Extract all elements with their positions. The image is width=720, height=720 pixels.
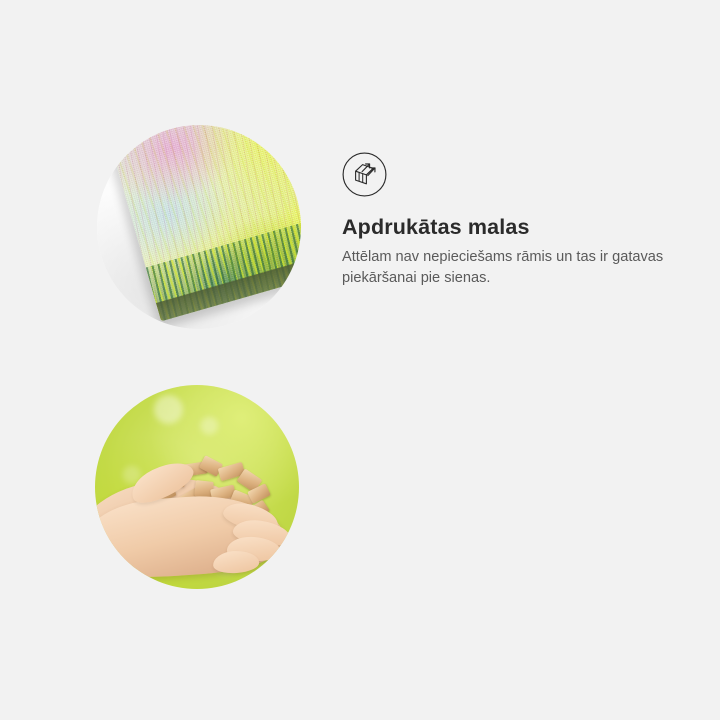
feature-section-printed-edges: Apdrukātas malas Attēlam nav nepieciešam… [0,0,720,360]
wood-chips-hands-photo [95,385,299,589]
printed-edges-icon [342,152,387,197]
feature-content-printed-edges: Apdrukātas malas Attēlam nav nepieciešam… [342,152,686,288]
canvas-corner-photo [97,125,301,329]
feature-infographic-page: Apdrukātas malas Attēlam nav nepieciešam… [0,0,720,720]
feature-title: Apdrukātas malas [342,215,686,241]
feature-section-eco-product: EKO produkts Mūsu ražošanas procesā tiek… [0,360,720,720]
feature-description: Attēlam nav nepieciešams rāmis un tas ir… [342,247,674,288]
